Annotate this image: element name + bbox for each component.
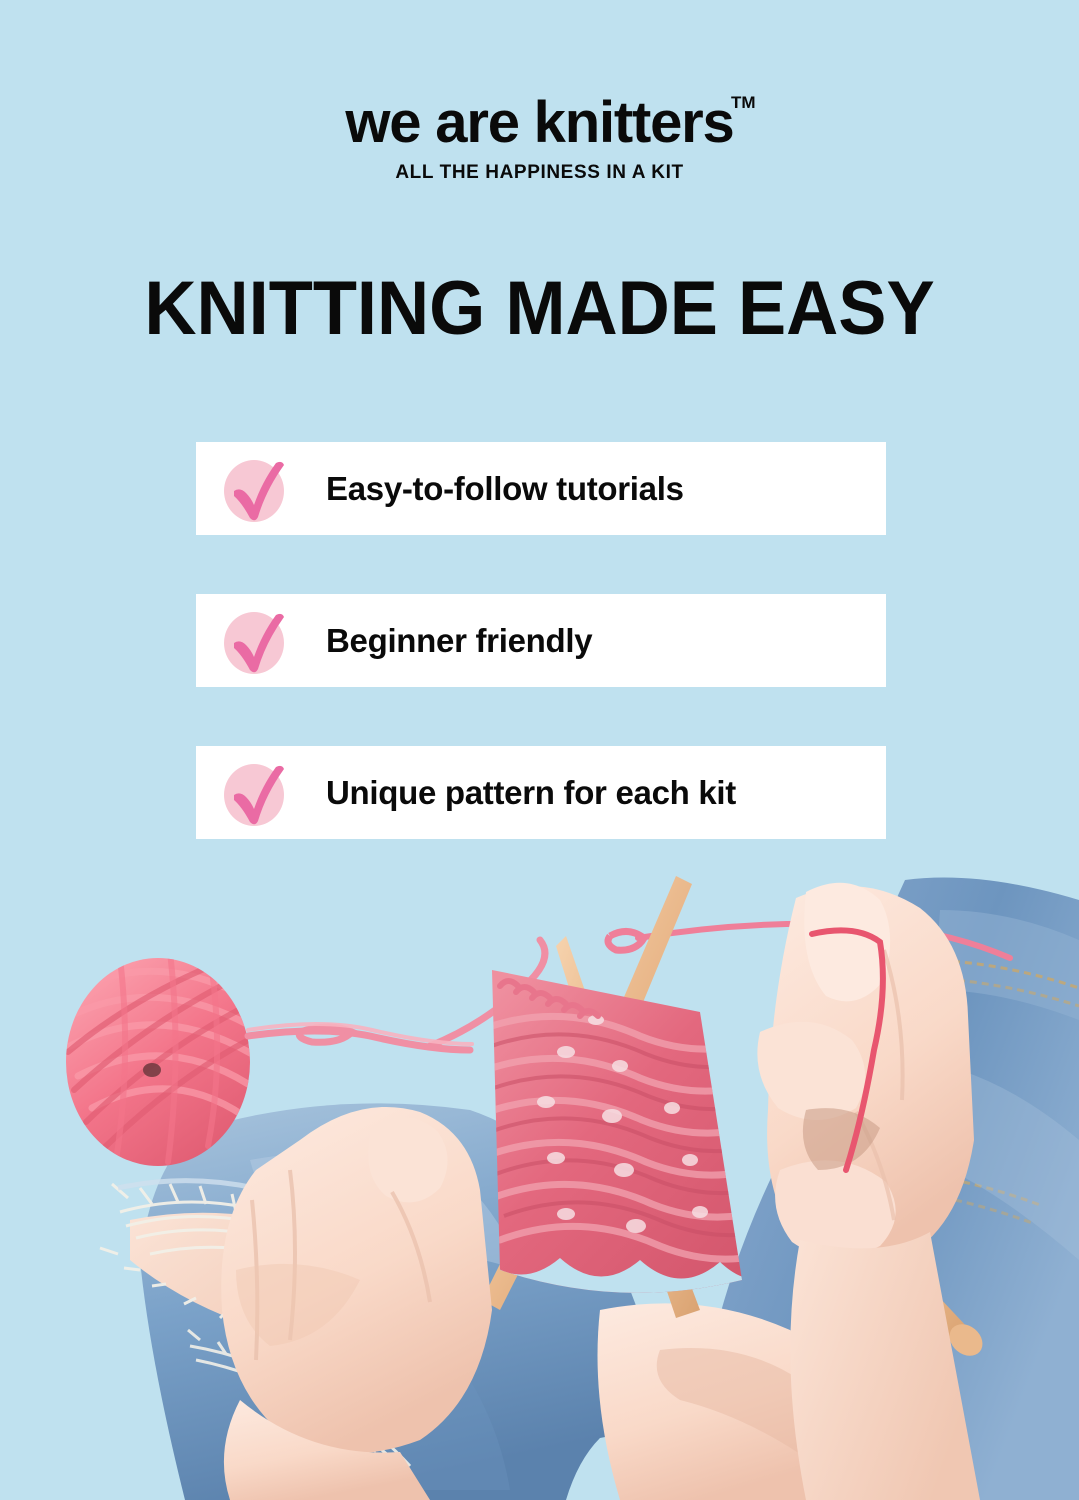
feature-card: Easy-to-follow tutorials — [196, 442, 886, 535]
brand-name: we are knitters TM — [345, 92, 733, 154]
check-icon — [222, 457, 286, 521]
feature-list: Easy-to-follow tutorials Beginner friend… — [196, 442, 886, 898]
poster-canvas: we are knitters TM ALL THE HAPPINESS IN … — [0, 0, 1079, 1500]
brand-name-text: we are knitters — [345, 90, 733, 155]
hero-photo — [0, 840, 1079, 1500]
feature-label: Unique pattern for each kit — [326, 774, 736, 812]
hero-photo-illustration — [0, 840, 1079, 1500]
check-icon — [222, 609, 286, 673]
brand-tagline: ALL THE HAPPINESS IN A KIT — [0, 162, 1079, 184]
page-title: KNITTING MADE EASY — [27, 268, 1052, 350]
feature-label: Easy-to-follow tutorials — [326, 470, 684, 508]
trademark-icon: TM — [731, 94, 756, 111]
check-icon — [222, 761, 286, 825]
feature-label: Beginner friendly — [326, 622, 592, 660]
brand-logo: we are knitters TM ALL THE HAPPINESS IN … — [0, 92, 1079, 184]
feature-card: Unique pattern for each kit — [196, 746, 886, 839]
feature-card: Beginner friendly — [196, 594, 886, 687]
